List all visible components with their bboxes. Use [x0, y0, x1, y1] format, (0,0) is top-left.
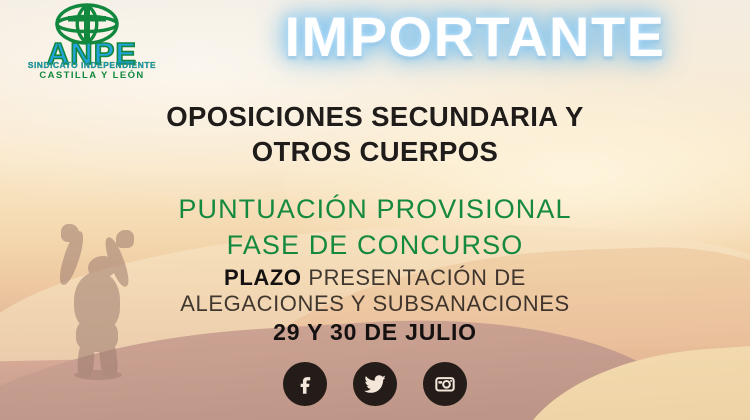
deadline-description-part-1: PRESENTACIÓN DE [308, 265, 526, 290]
social-links [0, 362, 750, 406]
logo-region: CASTILLA Y LEÓN [12, 70, 172, 81]
importante-banner: IMPORTANTE [205, 9, 745, 65]
subject-block: PUNTUACIÓN PROVISIONAL FASE DE CONCURSO [20, 192, 730, 264]
deadline-line-1: PLAZO PRESENTACIÓN DE [20, 265, 730, 291]
facebook-icon[interactable] [283, 362, 327, 406]
page-title: OPOSICIONES SECUNDARIA Y OTROS CUERPOS [20, 100, 730, 170]
poster-canvas: ANPE SINDICATO INDEPENDIENTE CASTILLA Y … [0, 0, 750, 420]
page-title-line-1: OPOSICIONES SECUNDARIA Y [20, 100, 730, 135]
deadline-block: PLAZO PRESENTACIÓN DE ALEGACIONES Y SUBS… [20, 265, 730, 346]
logo-subtitle: SINDICATO INDEPENDIENTE [12, 60, 172, 70]
subject-line-1: PUNTUACIÓN PROVISIONAL [20, 192, 730, 228]
deadline-description-part-2: ALEGACIONES Y SUBSANACIONES [20, 291, 730, 317]
twitter-icon[interactable] [353, 362, 397, 406]
anpe-logo[interactable]: ANPE SINDICATO INDEPENDIENTE CASTILLA Y … [12, 2, 172, 80]
deadline-dates: 29 Y 30 DE JULIO [20, 319, 730, 346]
page-title-line-2: OTROS CUERPOS [20, 135, 730, 170]
subject-line-2: FASE DE CONCURSO [20, 228, 730, 264]
deadline-label: PLAZO [224, 265, 302, 290]
instagram-icon[interactable] [423, 362, 467, 406]
